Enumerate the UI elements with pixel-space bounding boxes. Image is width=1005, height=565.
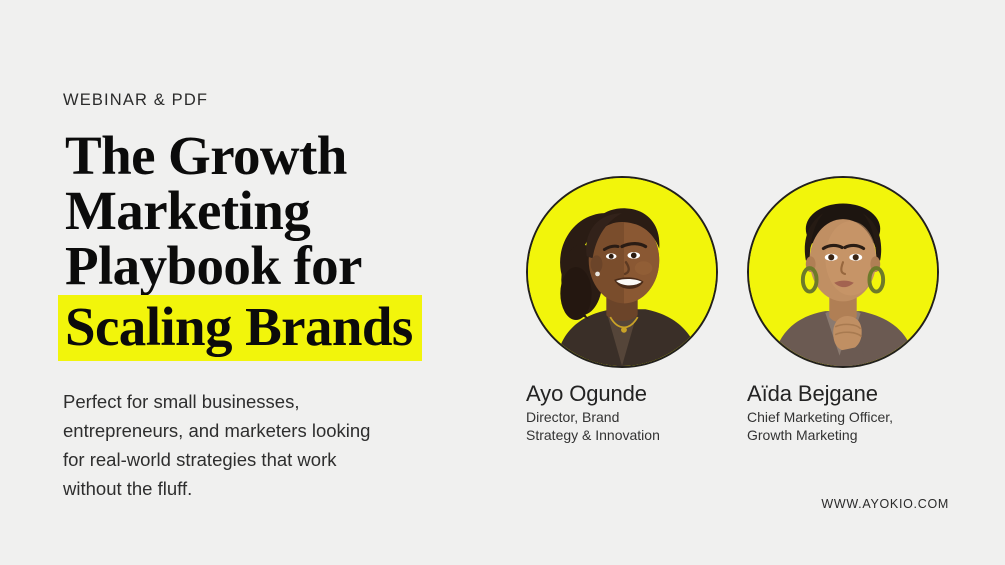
headline-line-2: Marketing <box>65 183 493 238</box>
portrait-ayo-ogunde-illustration <box>528 178 716 366</box>
hero-description-line-1: Perfect for small businesses, <box>63 387 458 416</box>
hero-text-column: WEBINAR & PDF The Growth Marketing Playb… <box>63 92 493 503</box>
headline-line-3: Playbook for <box>65 238 493 293</box>
hero-description-line-3: for real-world strategies that work <box>63 445 458 474</box>
speaker-role-line-2: Growth Marketing <box>747 427 939 445</box>
webinar-promo-slide: { "theme": { "background": "#F0F0EF", "h… <box>0 0 1005 565</box>
speaker-role-line-1: Director, Brand <box>526 409 718 427</box>
page-title: The Growth Marketing Playbook for Scalin… <box>65 128 493 361</box>
speaker-role-line-1: Chief Marketing Officer, <box>747 409 939 427</box>
speaker-role: Chief Marketing Officer, Growth Marketin… <box>747 409 939 444</box>
hero-description-line-2: entrepreneurs, and marketers looking <box>63 416 458 445</box>
speaker-name: Aïda Bejgane <box>747 381 939 406</box>
speaker-card-ayo-ogunde: Ayo Ogunde Director, Brand Strategy & In… <box>526 176 718 444</box>
hero-description-line-4: without the fluff. <box>63 474 458 503</box>
speaker-card-aida-bejgane: Aïda Bejgane Chief Marketing Officer, Gr… <box>747 176 939 444</box>
eyebrow-label: WEBINAR & PDF <box>63 92 493 109</box>
speaker-role: Director, Brand Strategy & Innovation <box>526 409 718 444</box>
site-url: WWW.AYOKIO.COM <box>821 497 949 511</box>
headline-line-4-highlighted: Scaling Brands <box>58 295 422 361</box>
avatar-aida-bejgane <box>747 176 939 368</box>
speaker-name: Ayo Ogunde <box>526 381 718 406</box>
speakers-list: Ayo Ogunde Director, Brand Strategy & In… <box>526 176 939 444</box>
speaker-role-line-2: Strategy & Innovation <box>526 427 718 445</box>
hero-description: Perfect for small businesses, entreprene… <box>63 387 458 503</box>
avatar-ayo-ogunde <box>526 176 718 368</box>
headline-line-1: The Growth <box>65 128 493 183</box>
portrait-aida-bejgane-illustration <box>749 178 937 366</box>
